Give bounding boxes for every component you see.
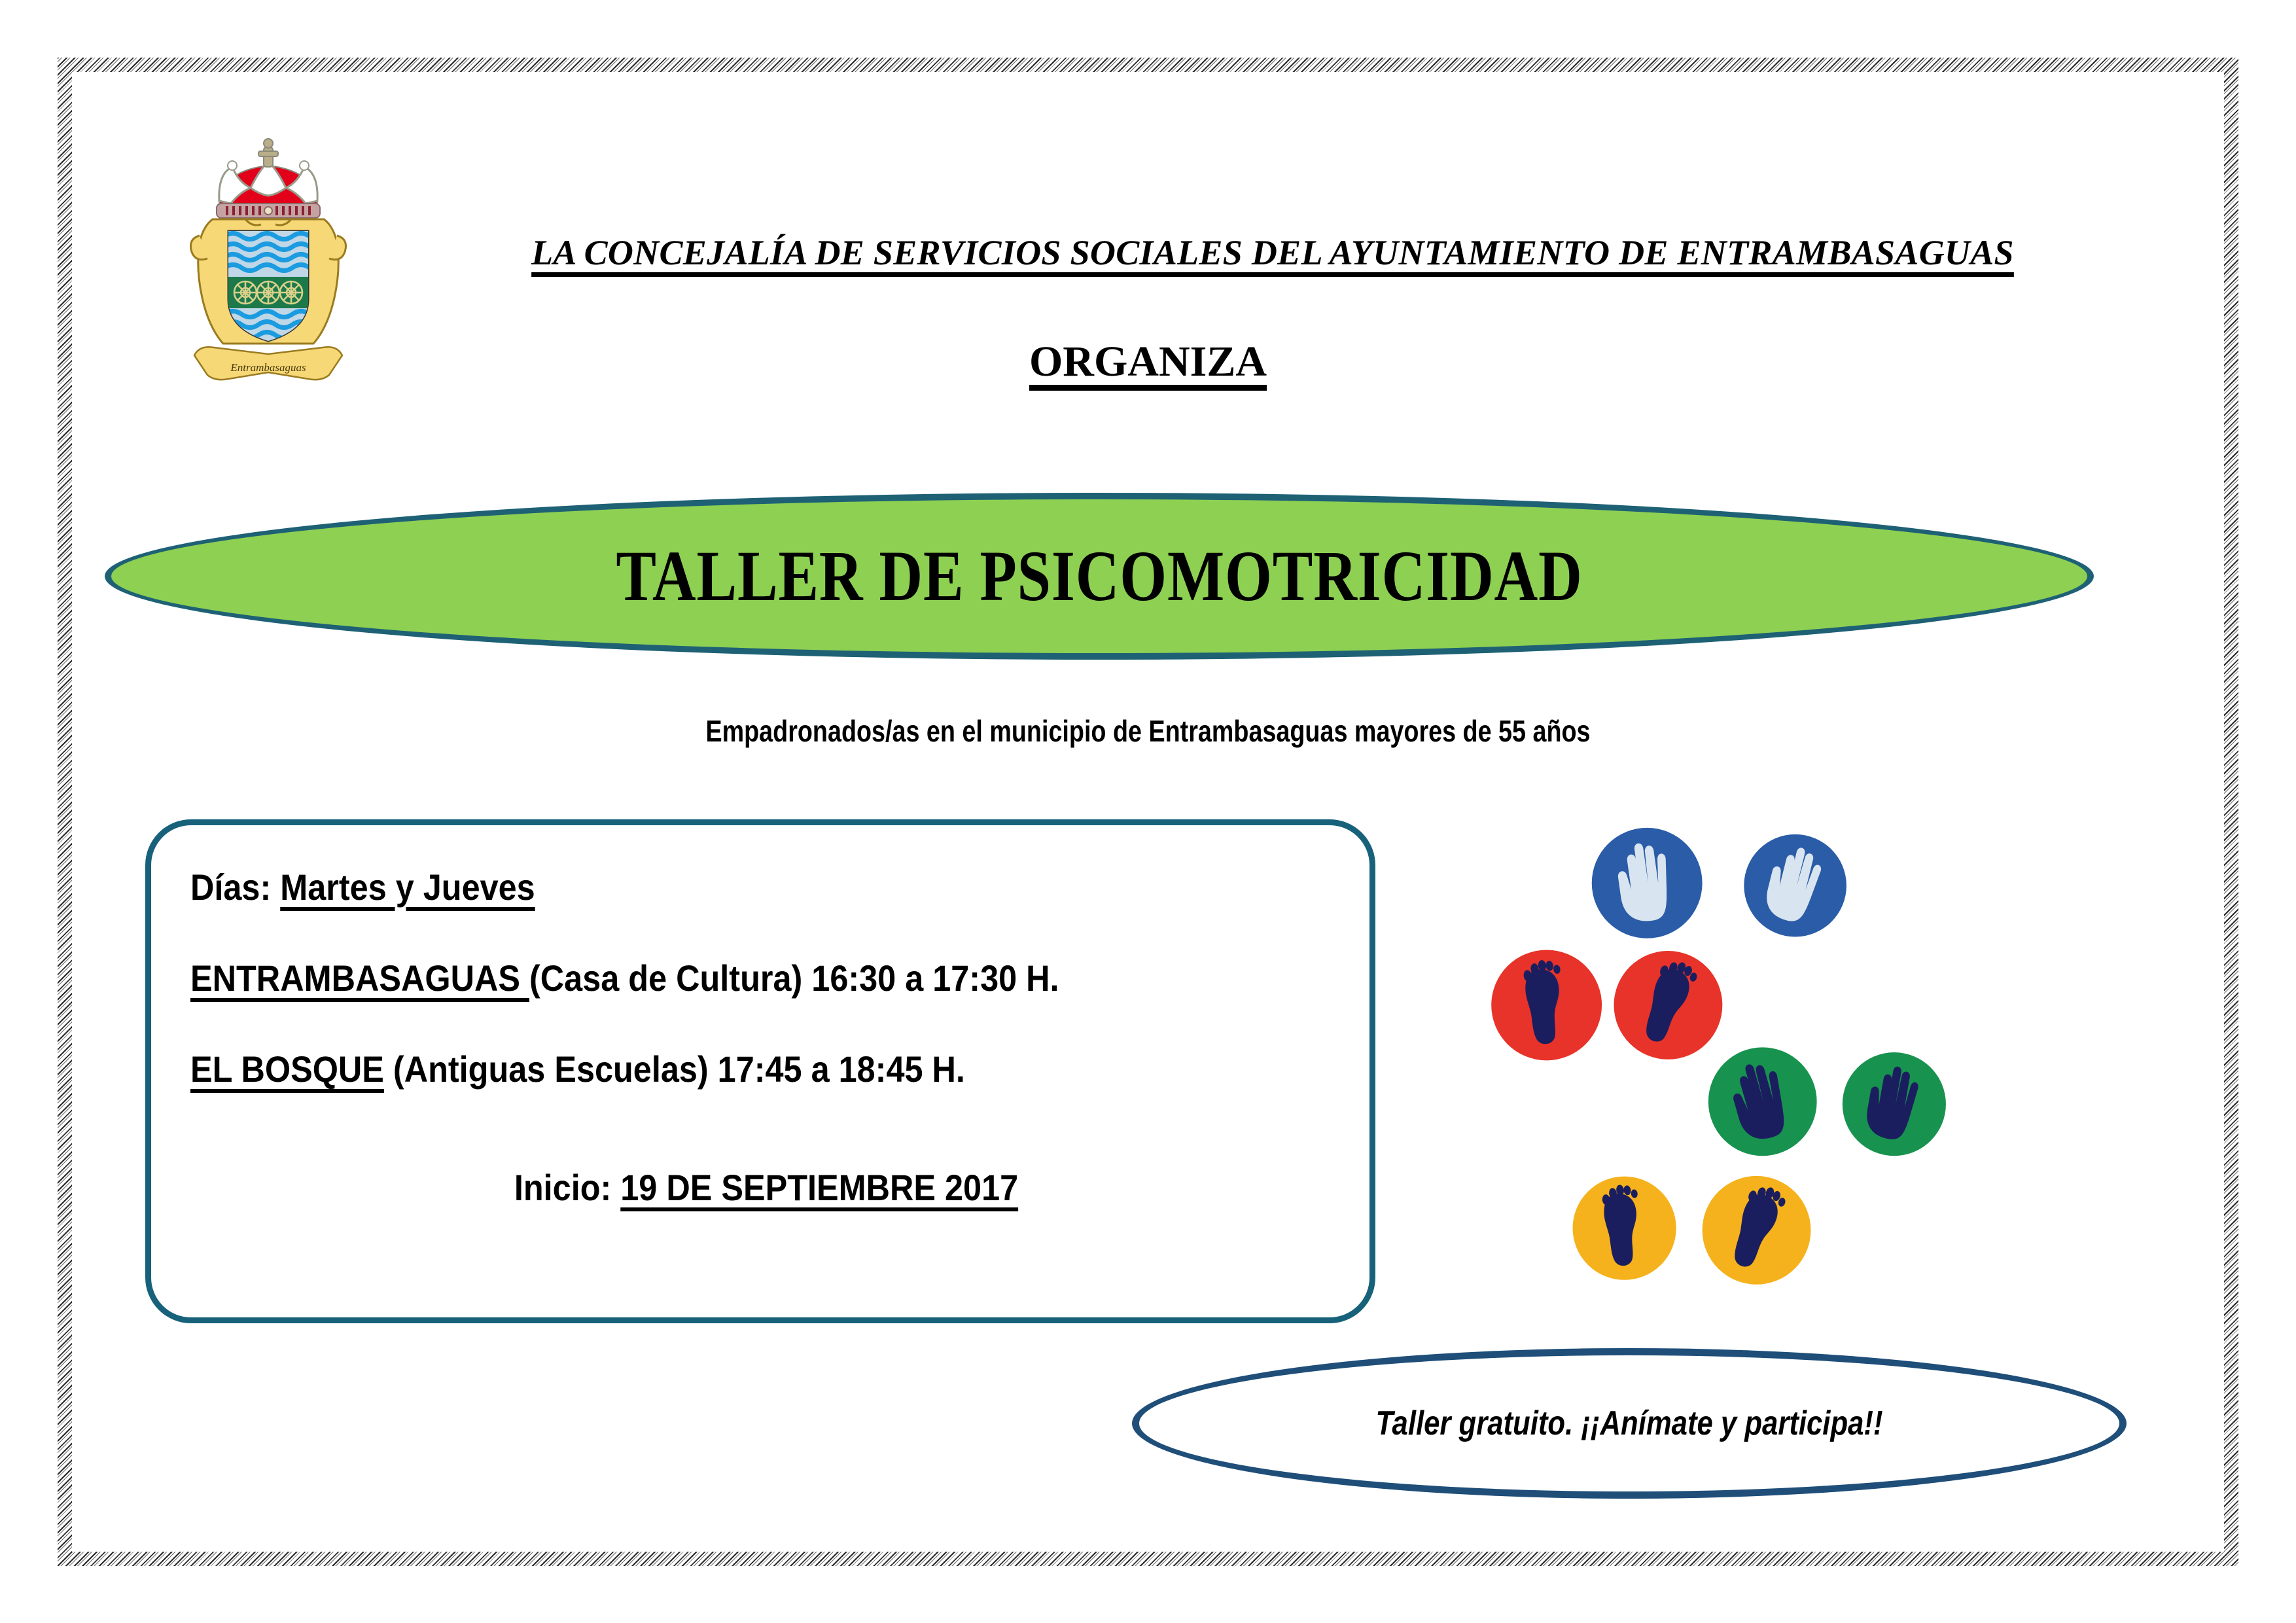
eligibility-subtitle: Empadronados/as en el municipio de Entra…: [207, 713, 2089, 749]
elbosque-detail: (Antiguas Escuelas) 17:45 a 18:45 H.: [384, 1048, 965, 1090]
green-hand-marker-left: [1708, 1047, 1817, 1156]
organizer-heading: LA CONCEJALÍA DE SERVICIOS SOCIALES DEL …: [451, 232, 2094, 273]
schedule-info-box: Días: Martes y Jueves ENTRAMBASAGUAS (Ca…: [145, 819, 1375, 1323]
schedule-line-elbosque: EL BOSQUE (Antiguas Escuelas) 17:45 a 18…: [190, 1048, 1227, 1090]
yellow-foot-marker-left: [1573, 1177, 1676, 1280]
start-label: Inicio:: [514, 1167, 620, 1208]
schedule-line-entrambasaguas: ENTRAMBASAGUAS (Casa de Cultura) 16:30 a…: [190, 957, 1227, 999]
free-workshop-text: Taller gratuito. ¡¡Anímate y participa!!: [1212, 1348, 2047, 1499]
days-label: Días:: [190, 866, 280, 908]
entrambasaguas-venue: ENTRAMBASAGUAS: [190, 957, 529, 999]
yellow-foot-marker-right: [1703, 1176, 1811, 1285]
organiza-heading: ORGANIZA: [0, 337, 2296, 387]
green-hand-marker-right: [1843, 1052, 1946, 1156]
poster-page: Entrambasaguas LA CONCEJALÍA DE SERVICIO…: [0, 0, 2296, 1623]
schedule-lines: Días: Martes y Jueves ENTRAMBASAGUAS (Ca…: [190, 866, 1342, 1209]
red-foot-marker-left: [1491, 950, 1602, 1060]
blue-hand-marker-right: [1744, 834, 1846, 937]
start-date-value: 19 DE SEPTIEMBRE 2017: [620, 1167, 1018, 1208]
blue-hand-marker-left: [1592, 828, 1703, 938]
elbosque-venue: EL BOSQUE: [190, 1048, 384, 1090]
workshop-title-banner: TALLER DE PSICOMOTRICIDAD: [105, 493, 2094, 660]
entrambasaguas-detail: (Casa de Cultura) 16:30 a 17:30 H.: [529, 957, 1059, 999]
schedule-line-days: Días: Martes y Jueves: [190, 866, 1227, 908]
schedule-line-start-date: Inicio: 19 DE SEPTIEMBRE 2017: [248, 1166, 1284, 1209]
days-value: Martes y Jueves: [280, 866, 535, 908]
red-foot-marker-right: [1614, 951, 1723, 1060]
floor-marker-discs-photo: [1407, 795, 2048, 1293]
free-workshop-callout: Taller gratuito. ¡¡Anímate y participa!!: [1132, 1348, 2127, 1499]
page-title: TALLER DE PSICOMOTRICIDAD: [264, 493, 1935, 660]
